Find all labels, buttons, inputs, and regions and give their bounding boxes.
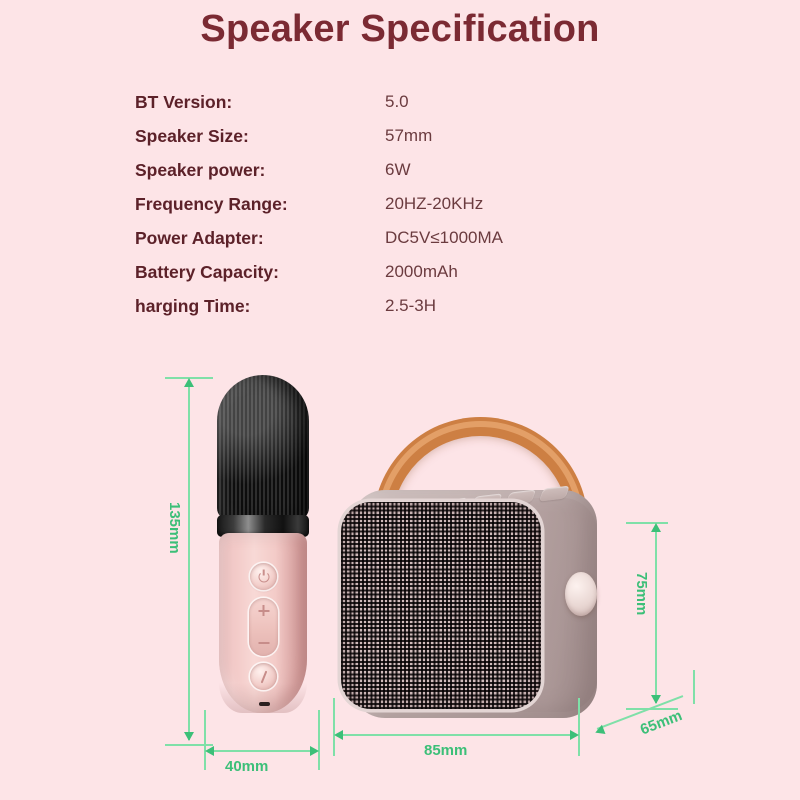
dimension-line <box>188 380 190 740</box>
dimension-line <box>336 734 577 736</box>
spec-value: DC5V≤1000MA <box>385 228 503 248</box>
dimension-arrow-right <box>310 746 319 756</box>
dimension-arrow-left <box>205 746 214 756</box>
dimension-arrow-up <box>184 378 194 387</box>
dimension-label-40mm: 40mm <box>225 758 268 775</box>
dimension-tick <box>204 710 206 770</box>
dimension-tick <box>333 698 335 756</box>
spec-value: 57mm <box>385 126 432 146</box>
dimension-arrow-down <box>184 732 194 741</box>
music-button-icon <box>250 663 277 690</box>
dimension-arrow-right <box>570 730 579 740</box>
spec-value: 6W <box>385 160 411 180</box>
dimension-tick <box>626 522 668 524</box>
table-row: Power Adapter: DC5V≤1000MA <box>135 221 615 255</box>
dimension-label-135mm: 135mm <box>166 502 183 554</box>
speaker-handle-knob <box>565 572 597 616</box>
specification-table: BT Version: 5.0 Speaker Size: 57mm Speak… <box>135 85 615 323</box>
table-row: Battery Capacity: 2000mAh <box>135 255 615 289</box>
spec-label: harging Time: <box>135 296 385 317</box>
dimension-line <box>207 750 317 752</box>
table-row: Frequency Range: 20HZ-20KHz <box>135 187 615 221</box>
spec-label: Speaker power: <box>135 160 385 181</box>
dimension-tick <box>693 670 695 704</box>
spec-label: Power Adapter: <box>135 228 385 249</box>
page-title: Speaker Specification <box>0 8 800 51</box>
plus-icon <box>258 610 269 612</box>
dimension-label-85mm: 85mm <box>424 742 467 759</box>
spec-label: Frequency Range: <box>135 194 385 215</box>
dimension-arrow-left <box>334 730 343 740</box>
spec-value: 5.0 <box>385 92 409 112</box>
microphone-port <box>259 702 270 706</box>
dimension-label-75mm: 75mm <box>633 572 650 615</box>
music-note-glyph-icon <box>260 670 267 683</box>
volume-buttons <box>249 598 278 656</box>
spec-value: 2000mAh <box>385 262 458 282</box>
table-row: BT Version: 5.0 <box>135 85 615 119</box>
table-row: harging Time: 2.5-3H <box>135 289 615 323</box>
spec-value: 20HZ-20KHz <box>385 194 483 214</box>
dimension-arrow-up <box>651 523 661 532</box>
power-glyph-icon <box>258 571 269 582</box>
microphone-mesh-head <box>217 375 309 520</box>
microphone-product-image <box>205 375 320 710</box>
speaker-grille <box>341 502 541 709</box>
spec-label: Speaker Size: <box>135 126 385 147</box>
dimension-tick <box>318 710 320 770</box>
table-row: Speaker power: 6W <box>135 153 615 187</box>
spec-label: BT Version: <box>135 92 385 113</box>
table-row: Speaker Size: 57mm <box>135 119 615 153</box>
power-button-icon <box>250 563 277 590</box>
dimension-tick <box>578 698 580 756</box>
minus-icon <box>258 642 269 644</box>
spec-page: Speaker Specification BT Version: 5.0 Sp… <box>0 0 800 800</box>
spec-value: 2.5-3H <box>385 296 436 316</box>
dimension-line <box>655 525 657 703</box>
spec-label: Battery Capacity: <box>135 262 385 283</box>
speaker-product-image <box>333 420 653 730</box>
product-illustration: 135mm 40mm 85mm 75mm <box>0 340 800 800</box>
